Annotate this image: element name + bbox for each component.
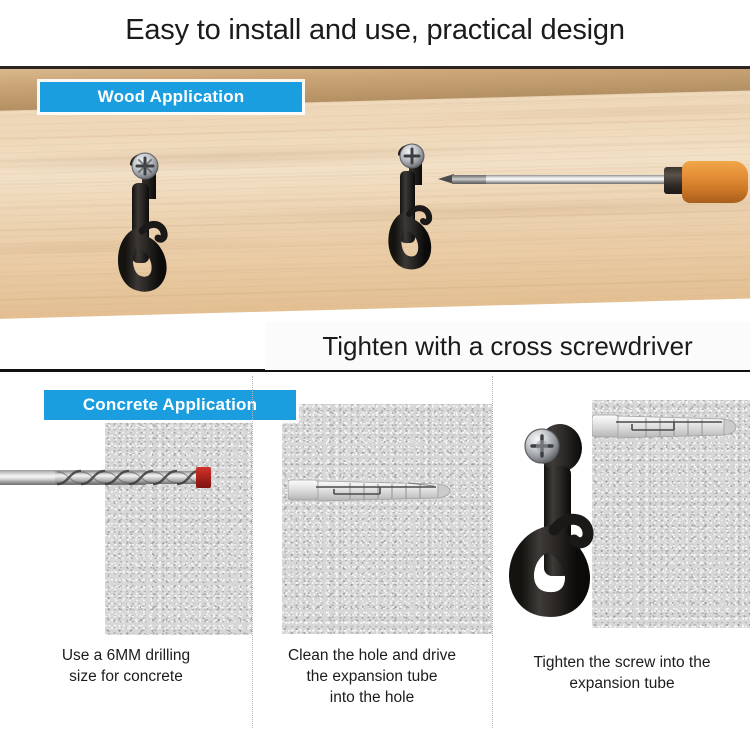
wall-hook [118,143,188,308]
product-instruction-page: Easy to install and use, practical desig… [0,0,750,750]
concrete-wall [105,417,252,635]
panel-divider [252,376,253,728]
page-title: Easy to install and use, practical desig… [0,14,750,47]
drill-bit-flutes [55,469,200,486]
step-panel-drill [0,372,252,750]
expansion-tube [288,474,468,508]
drill-bit-carbide-tip [196,467,211,488]
screwdriver-shaft [486,175,666,184]
wall-hook [500,418,630,618]
concrete-application-badge: Concrete Application [44,390,296,420]
panel-divider [492,376,493,728]
screwdriver-handle [682,161,748,203]
screwdriver-neck [452,175,488,184]
tighten-caption: Tighten with a cross screwdriver [265,322,750,370]
cross-screwdriver [438,155,750,211]
wood-application-badge: Wood Application [40,82,302,112]
step-caption-plug: Clean the hole and drive the expansion t… [256,645,488,708]
concrete-wall [282,404,492,634]
step-caption-screw: Tighten the screw into the expansion tub… [498,652,746,694]
step-caption-drill: Use a 6MM drilling size for concrete [6,645,246,687]
